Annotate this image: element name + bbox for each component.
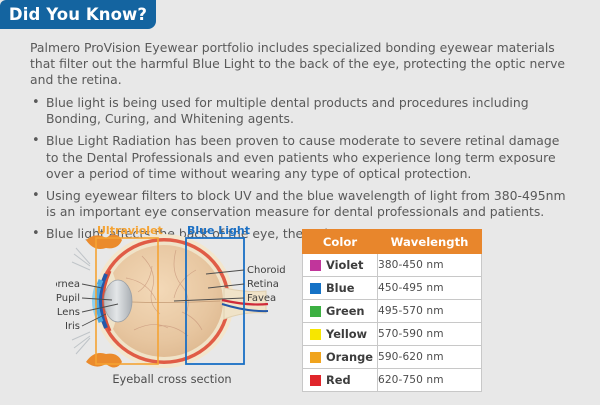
table-body: Violet 380-450 nm Blue 450-495 nm Green [303,254,482,392]
column-header-color: Color [303,230,378,254]
list-item: • Using eyewear filters to block UV and … [30,188,575,220]
color-name: Orange [326,350,373,364]
cell-wavelength: 380-450 nm [378,254,482,277]
table-row: Red 620-750 nm [303,369,482,392]
cell-wavelength: 450-495 nm [378,277,482,300]
page-title: Did You Know? [9,5,147,24]
color-swatch-icon [310,375,321,386]
intro-paragraph: Palmero ProVision Eyewear portfolio incl… [30,40,575,88]
wavelength-table: Color Wavelength Violet 380-450 nm Blue … [302,229,482,392]
cell-color: Orange [303,346,378,369]
label-choroid: Choroid [247,265,286,276]
article-body: Palmero ProVision Eyewear portfolio incl… [30,40,575,242]
cell-color: Yellow [303,323,378,346]
bullet-dot-icon: • [32,226,40,242]
table-row: Orange 590-620 nm [303,346,482,369]
table-row: Violet 380-450 nm [303,254,482,277]
color-name: Yellow [326,327,367,341]
label-iris: Iris [65,321,80,332]
label-lens: Lens [57,307,80,318]
list-item-text: Blue Light Radiation has been proven to … [46,133,559,180]
cell-wavelength: 620-750 nm [378,369,482,392]
bullet-dot-icon: • [32,95,40,111]
bullet-dot-icon: • [32,188,40,204]
cell-color: Blue [303,277,378,300]
color-swatch-icon [310,306,321,317]
color-swatch-icon [310,329,321,340]
right-label-texts: Choroid Retina Favea [247,265,286,304]
table-row: Blue 450-495 nm [303,277,482,300]
left-label-texts: Cornea Pupil Lens Iris [56,279,80,332]
label-pupil: Pupil [56,293,80,304]
eyeball-cross-section-diagram: Ultraviolet Blue Light Cornea Pupil Lens… [56,226,288,372]
column-header-wavelength: Wavelength [378,230,482,254]
blue-light-band-label: Blue Light [187,226,250,237]
fact-bullet-list: • Blue light is being used for multiple … [30,95,575,242]
list-item-text: Blue light is being used for multiple de… [46,95,529,126]
list-item-text: Using eyewear filters to block UV and th… [46,188,566,219]
figure-caption: Eyeball cross section [56,372,288,386]
color-name: Red [326,373,351,387]
cell-wavelength: 570-590 nm [378,323,482,346]
color-swatch-icon [310,352,321,363]
color-name: Blue [326,281,354,295]
ultraviolet-band-label: Ultraviolet [97,226,163,237]
color-name: Green [326,304,365,318]
cell-color: Green [303,300,378,323]
table-header-row: Color Wavelength [303,230,482,254]
cell-wavelength: 590-620 nm [378,346,482,369]
label-cornea: Cornea [56,279,80,290]
color-name: Violet [326,258,363,272]
cell-color: Violet [303,254,378,277]
color-swatch-icon [310,260,321,271]
table-row: Green 495-570 nm [303,300,482,323]
table-row: Yellow 570-590 nm [303,323,482,346]
cell-wavelength: 495-570 nm [378,300,482,323]
header-tab: Did You Know? [0,0,156,29]
lens-shape [104,280,132,322]
list-item: • Blue light is being used for multiple … [30,95,575,127]
cell-color: Red [303,369,378,392]
eyeball-figure: Ultraviolet Blue Light Cornea Pupil Lens… [56,226,288,398]
list-item: • Blue Light Radiation has been proven t… [30,133,575,181]
bullet-dot-icon: • [32,133,40,149]
color-swatch-icon [310,283,321,294]
label-retina: Retina [247,279,279,290]
table-header: Color Wavelength [303,230,482,254]
label-favea: Favea [247,293,276,304]
